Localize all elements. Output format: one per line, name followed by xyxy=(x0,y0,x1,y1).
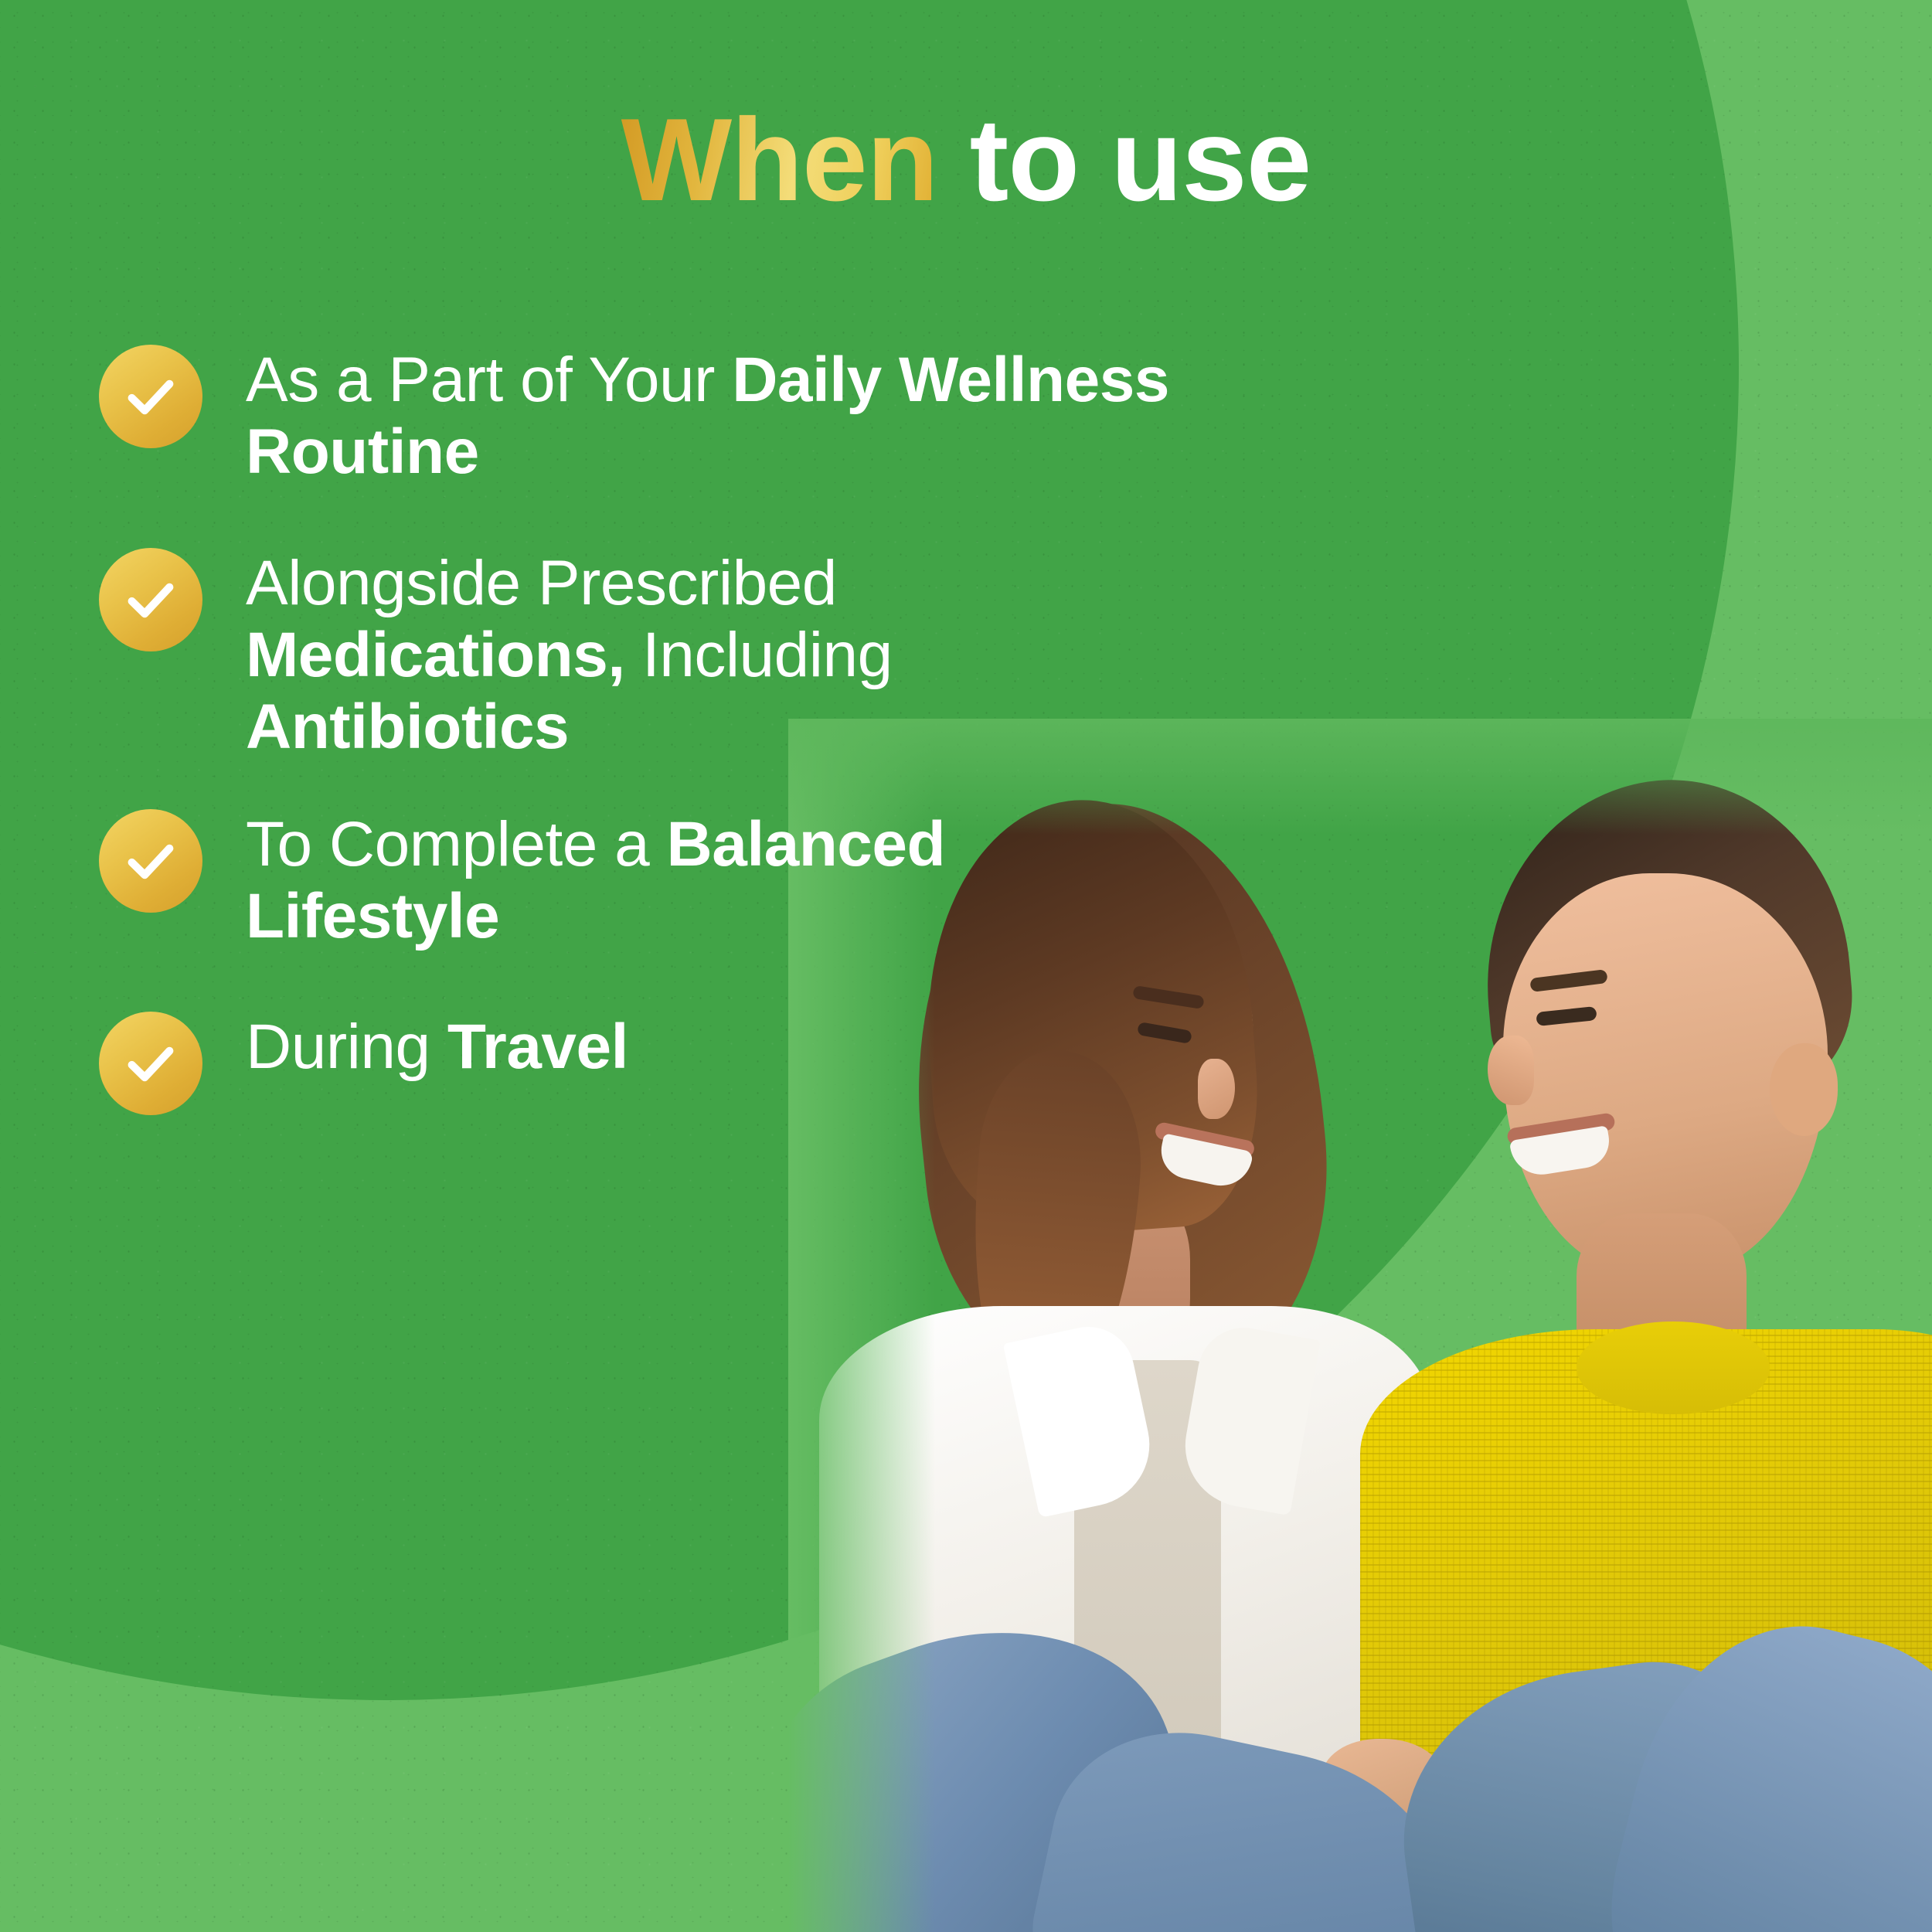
list-item-label: As a Part of Your Daily Wellness Routine xyxy=(246,332,1204,488)
title-highlight-word: When xyxy=(621,94,938,226)
title-rest: to use xyxy=(937,94,1311,226)
man-ear xyxy=(1770,1043,1838,1136)
list-item-lead: As a Part of Your xyxy=(246,345,732,415)
list-item-tail: Including xyxy=(625,620,893,690)
list-item: During Travel xyxy=(99,999,1204,1115)
check-icon xyxy=(99,1012,202,1115)
list-item-emphasis: Medications, xyxy=(246,620,625,690)
list-item-label: To Complete a Balanced Lifestyle xyxy=(246,797,1204,952)
check-icon xyxy=(99,548,202,651)
check-icon xyxy=(99,809,202,913)
list-item-emphasis-2: Antibiotics xyxy=(246,692,569,762)
list-item: To Complete a Balanced Lifestyle xyxy=(99,797,1204,952)
list-item-lead: During xyxy=(246,1012,447,1082)
promotional-poster: When to use As a Part of Your Daily Well… xyxy=(0,0,1932,1932)
list-item-label: During Travel xyxy=(246,999,628,1083)
list-item-lead: Alongside Prescribed xyxy=(246,548,837,618)
list-item-lead: To Complete a xyxy=(246,809,667,879)
check-icon xyxy=(99,345,202,448)
man-nose xyxy=(1488,1036,1534,1105)
page-title: When to use xyxy=(0,99,1932,223)
list-item: Alongside Prescribed Medications, Includ… xyxy=(99,536,1204,763)
usage-checklist: As a Part of Your Daily Wellness Routine… xyxy=(99,332,1204,1115)
list-item-label: Alongside Prescribed Medications, Includ… xyxy=(246,536,1204,763)
list-item-emphasis: Travel xyxy=(447,1012,628,1082)
man-sweater-collar xyxy=(1577,1321,1770,1414)
list-item: As a Part of Your Daily Wellness Routine xyxy=(99,332,1204,488)
